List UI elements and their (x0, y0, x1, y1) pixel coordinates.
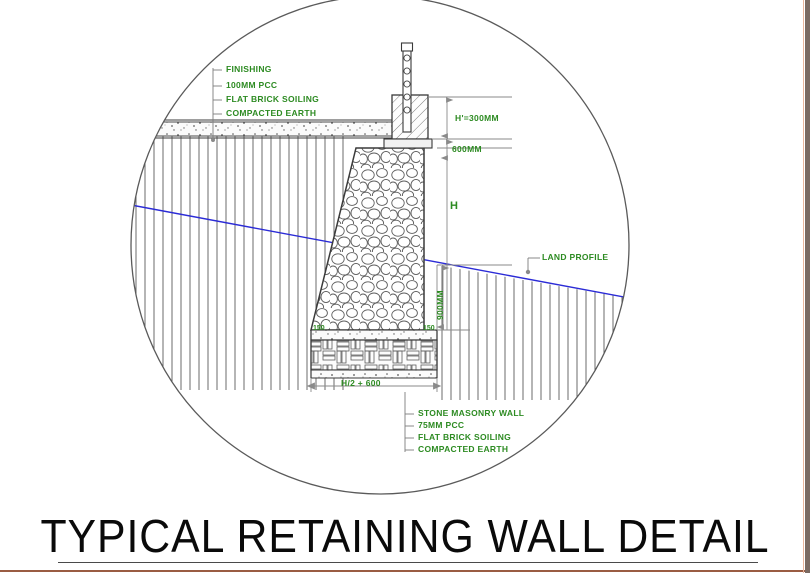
label-compacted-earth-base: COMPACTED EARTH (418, 444, 508, 454)
drawing-canvas: FINISHING 100MM PCC FLAT BRICK SOILING C… (0, 0, 810, 510)
natural-ground-right (436, 265, 640, 400)
dim-cap-height: H'=300MM (455, 113, 499, 123)
retaining-wall-detail-svg (0, 0, 810, 510)
dim-wall-height: H (450, 200, 458, 212)
label-finishing: FINISHING (226, 64, 272, 74)
label-100mm-pcc: 100MM PCC (226, 80, 277, 90)
flat-brick-soiling-base-layer (311, 340, 437, 370)
label-75mm-pcc: 75MM PCC (418, 420, 464, 430)
ground-slope-left (131, 78, 176, 122)
label-land-profile: LAND PROFILE (542, 252, 608, 262)
dim-upper-offset: 600MM (452, 144, 482, 154)
title-underline (58, 562, 758, 563)
label-flat-brick-soiling-top: FLAT BRICK SOILING (226, 94, 319, 104)
page-title: TYPICAL RETAINING WALL DETAIL (28, 509, 781, 563)
bubble-contents (131, 43, 640, 400)
base-pcc-layer (311, 330, 437, 340)
page-frame-outer-edge (805, 0, 810, 573)
top-pcc-layer (131, 122, 392, 136)
base-bedding-layer (311, 370, 437, 378)
dim-base-width: H/2 + 600 (341, 378, 381, 388)
dim-toe-height: 900MM (435, 290, 445, 320)
drawing-page: FINISHING 100MM PCC FLAT BRICK SOILING C… (0, 0, 810, 573)
label-compacted-earth-top: COMPACTED EARTH (226, 108, 316, 118)
label-flat-brick-soiling-base: FLAT BRICK SOILING (418, 432, 511, 442)
label-stone-masonry-wall: STONE MASONRY WALL (418, 408, 524, 418)
cap-bed-course (384, 139, 432, 148)
page-frame-inner-rule (803, 0, 804, 573)
page-bottom-rule (0, 570, 810, 572)
title-block: TYPICAL RETAINING WALL DETAIL (0, 505, 810, 573)
dim-base-right-offset: 150 (423, 325, 435, 332)
anchor-post (402, 43, 413, 132)
dim-base-left-offset: 150 (313, 325, 325, 332)
